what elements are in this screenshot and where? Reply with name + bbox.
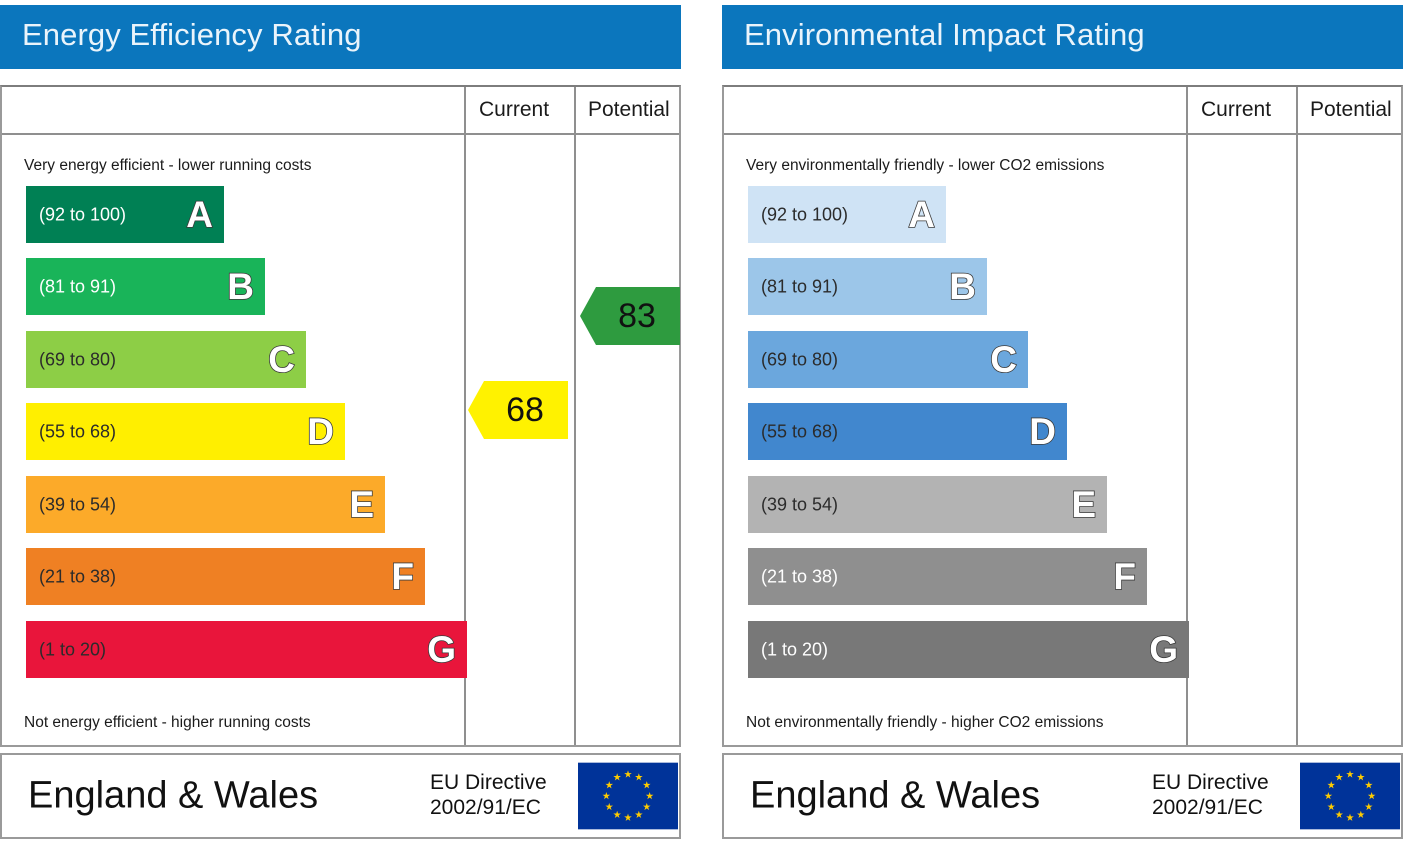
page-title: Energy Efficiency Rating [22, 17, 362, 53]
potential-rating-value: 83 [604, 299, 656, 333]
band-range: (1 to 20) [39, 639, 106, 660]
panel-environmental-impact: Environmental Impact Rating Current Pote… [722, 5, 1403, 839]
column-header-current: Current [1201, 98, 1271, 122]
caption-top: Very environmentally friendly - lower CO… [746, 157, 1104, 175]
band-letter: E [1071, 485, 1096, 522]
band-row: (55 to 68) D [748, 403, 1067, 460]
band-letter: D [307, 412, 334, 449]
eu-flag-icon [578, 763, 678, 830]
band-row: (69 to 80) C [26, 331, 306, 388]
band-row: (81 to 91) B [26, 258, 265, 315]
band-letter: E [349, 485, 374, 522]
band-row: (1 to 20) G [26, 621, 467, 678]
band-row: (39 to 54) E [748, 476, 1107, 533]
band-range: (1 to 20) [761, 639, 828, 660]
band-list: (92 to 100) A (81 to 91) B (69 to 80) C … [2, 186, 464, 701]
footer-directive-label: EU Directive 2002/91/EC [1152, 771, 1269, 821]
band-letter: B [949, 267, 976, 304]
band-row: (69 to 80) C [748, 331, 1028, 388]
page-title: Environmental Impact Rating [744, 17, 1145, 53]
current-rating-arrow: 68 [468, 381, 568, 439]
caption-bottom: Not energy efficient - higher running co… [24, 714, 311, 732]
directive-line-1: EU Directive [430, 771, 547, 796]
band-letter: G [427, 630, 456, 667]
band-letter: F [391, 557, 414, 594]
band-range: (81 to 91) [39, 276, 116, 297]
table-header-row [2, 87, 679, 135]
panel-energy-efficiency: Energy Efficiency Rating Current Potenti… [0, 5, 681, 839]
panel-title-bar: Energy Efficiency Rating [0, 5, 681, 69]
band-range: (81 to 91) [761, 276, 838, 297]
column-divider-potential [574, 87, 576, 745]
band-range: (21 to 38) [761, 566, 838, 587]
band-row: (81 to 91) B [748, 258, 987, 315]
directive-line-1: EU Directive [1152, 771, 1269, 796]
band-row: (39 to 54) E [26, 476, 385, 533]
band-row: (92 to 100) A [26, 186, 224, 243]
band-letter: A [186, 195, 213, 232]
band-row: (1 to 20) G [748, 621, 1189, 678]
band-letter: B [227, 267, 254, 304]
column-header-potential: Potential [1310, 98, 1392, 122]
band-range: (69 to 80) [39, 349, 116, 370]
footer-directive-label: EU Directive 2002/91/EC [430, 771, 547, 821]
band-letter: G [1149, 630, 1178, 667]
current-rating-value: 68 [492, 393, 544, 427]
band-range: (92 to 100) [761, 204, 848, 225]
table-header-row [724, 87, 1401, 135]
band-row: (55 to 68) D [26, 403, 345, 460]
band-range: (55 to 68) [39, 421, 116, 442]
rating-table: Current Potential Very environmentally f… [722, 85, 1403, 747]
directive-line-2: 2002/91/EC [1152, 796, 1269, 821]
band-letter: C [990, 340, 1017, 377]
panel-title-bar: Environmental Impact Rating [722, 5, 1403, 69]
footer-region-label: England & Wales [750, 775, 1040, 818]
directive-line-2: 2002/91/EC [430, 796, 547, 821]
band-list: (92 to 100) A (81 to 91) B (69 to 80) C … [724, 186, 1186, 701]
column-header-current: Current [479, 98, 549, 122]
band-range: (39 to 54) [39, 494, 116, 515]
band-range: (92 to 100) [39, 204, 126, 225]
band-letter: A [908, 195, 935, 232]
column-header-potential: Potential [588, 98, 670, 122]
band-row: (21 to 38) F [748, 548, 1147, 605]
eu-flag-icon [1300, 763, 1400, 830]
band-letter: F [1113, 557, 1136, 594]
band-row: (92 to 100) A [748, 186, 946, 243]
band-letter: D [1029, 412, 1056, 449]
band-letter: C [268, 340, 295, 377]
potential-rating-arrow: 83 [580, 287, 680, 345]
band-row: (21 to 38) F [26, 548, 425, 605]
panel-footer: England & Wales EU Directive 2002/91/EC [0, 753, 681, 839]
caption-top: Very energy efficient - lower running co… [24, 157, 311, 175]
caption-bottom: Not environmentally friendly - higher CO… [746, 714, 1104, 732]
band-range: (55 to 68) [761, 421, 838, 442]
rating-table: Current Potential Very energy efficient … [0, 85, 681, 747]
epc-chart-pair: Energy Efficiency Rating Current Potenti… [0, 0, 1408, 844]
column-divider-potential [1296, 87, 1298, 745]
footer-region-label: England & Wales [28, 775, 318, 818]
band-range: (69 to 80) [761, 349, 838, 370]
band-range: (39 to 54) [761, 494, 838, 515]
band-range: (21 to 38) [39, 566, 116, 587]
panel-footer: England & Wales EU Directive 2002/91/EC [722, 753, 1403, 839]
